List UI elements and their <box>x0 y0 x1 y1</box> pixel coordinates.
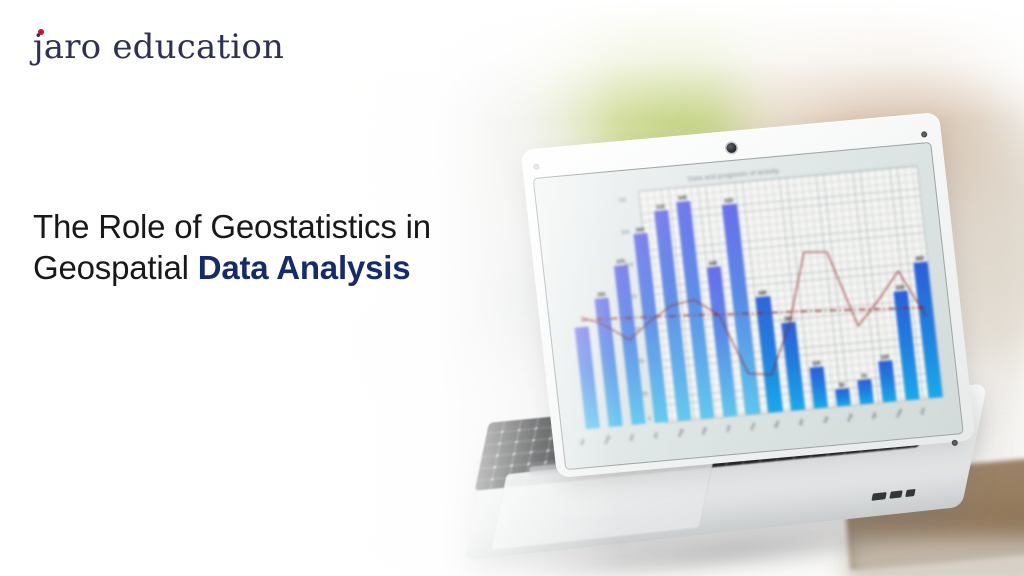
hdmi-port <box>889 490 902 499</box>
webcam-icon <box>726 143 737 154</box>
audio-port <box>905 488 915 496</box>
chart-line-trend <box>581 289 925 338</box>
headline-plain: Geospatial <box>33 249 198 286</box>
headline-line-1: The Role of Geostatistics in <box>33 206 553 247</box>
brand-dot-icon <box>38 29 44 35</box>
bezel-screw-right-icon <box>921 131 928 138</box>
headline-line-2: Geospatial Data Analysis <box>33 247 553 288</box>
brand-name: jaro education <box>33 30 284 64</box>
banner-canvas: Data and prognosis of activity 700 600 5… <box>0 0 1024 576</box>
usb-port <box>871 492 886 501</box>
chart-line-prognosis <box>576 242 931 391</box>
page-title: The Role of Geostatistics in Geospatial … <box>33 206 553 288</box>
headline-highlight: Data Analysis <box>198 249 411 286</box>
brand-logo[interactable]: jaro education <box>33 30 284 64</box>
